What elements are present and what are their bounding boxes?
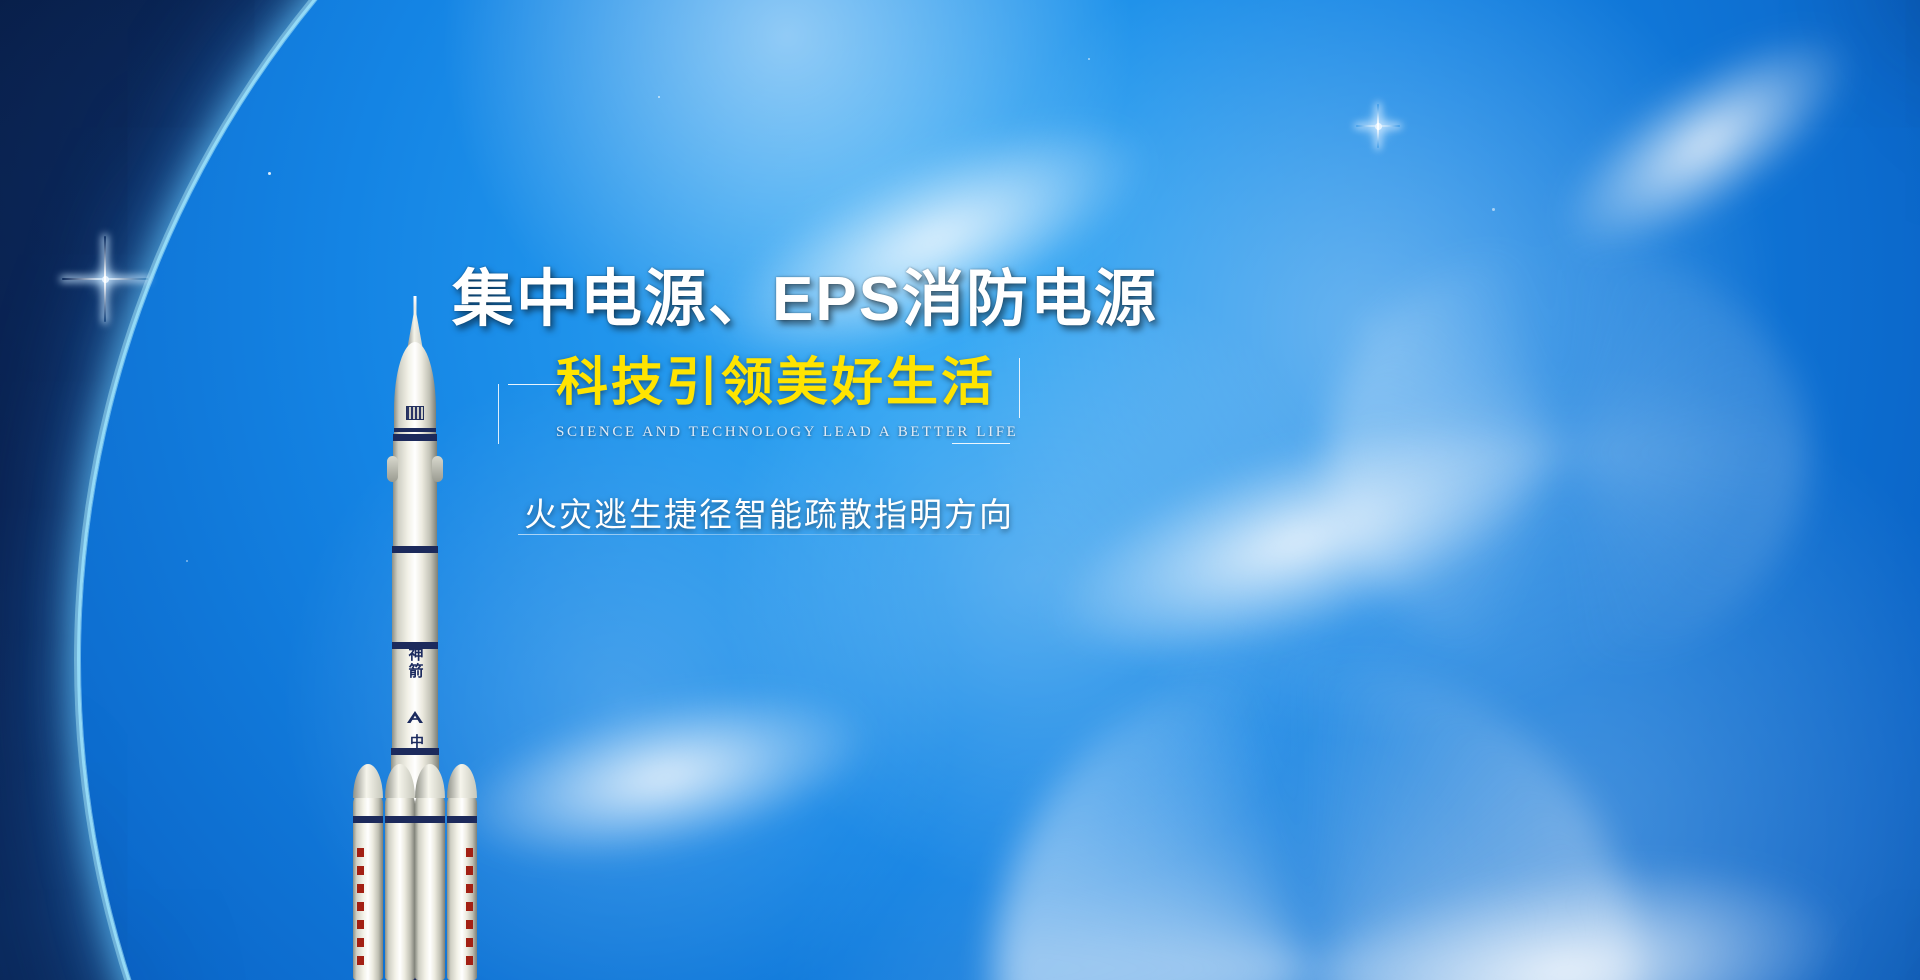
banner-copy: 集中电源、EPS消防电源 科技引领美好生活 SCIENCE AND TECHNO… [0, 0, 1920, 980]
subtitle-english: SCIENCE AND TECHNOLOGY LEAD A BETTER LIF… [556, 424, 1018, 441]
page-title: 集中电源、EPS消防电源 [452, 248, 1158, 338]
tagline: 火灾逃生捷径智能疏散指明方向 [524, 488, 1014, 536]
frame-right-horizontal [952, 443, 1010, 444]
frame-right-vertical [1019, 358, 1020, 418]
subtitle-chinese: 科技引领美好生活 [556, 340, 996, 415]
hero-banner: 神箭 中国航天 CZ-2F 集中电源、EPS消防电源 [0, 0, 1920, 980]
tagline-underline [518, 534, 980, 535]
frame-left-vertical [498, 384, 499, 444]
